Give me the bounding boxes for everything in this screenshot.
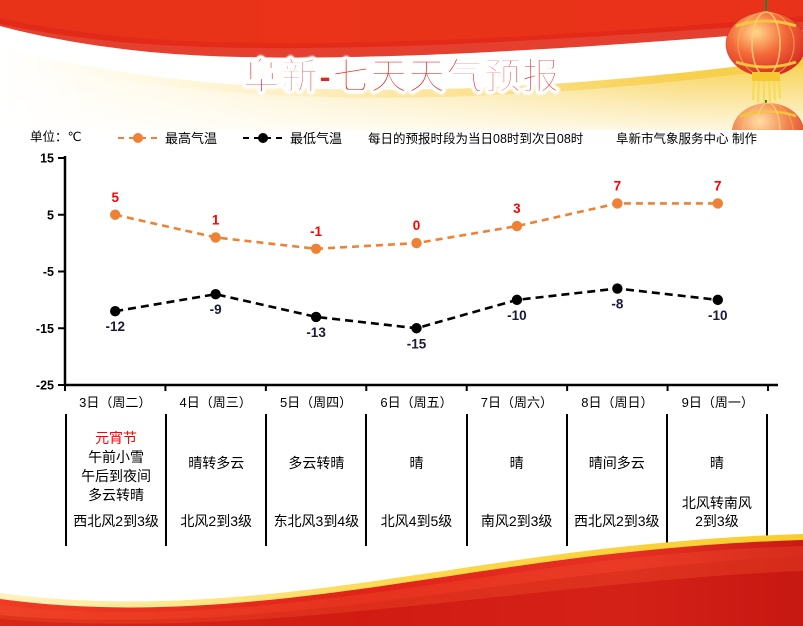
day-detail-table: 元宵节午前小雪午后到夜间多云转晴西北风2到3级晴转多云北风2到3级多云转晴东北风…: [65, 414, 768, 546]
svg-text:15: 15: [40, 152, 54, 166]
wind-text: 西北风2到3级: [568, 512, 666, 530]
weather-condition-text: 多云转晴: [88, 486, 144, 505]
weather-condition-text: 多云转晴: [288, 454, 344, 473]
wind-text: 东北风3到4级: [267, 512, 365, 530]
svg-text:5: 5: [111, 190, 119, 205]
day-column: 晴间多云西北风2到3级: [566, 414, 666, 546]
festival-label: 元宵节: [95, 429, 137, 448]
weather-condition-text: 晴间多云: [589, 454, 645, 473]
svg-text:9日（周一）: 9日（周一）: [682, 395, 754, 408]
svg-text:3日（周二）: 3日（周二）: [79, 395, 151, 408]
wind-text: 北风转南风2到3级: [668, 494, 766, 530]
svg-text:-8: -8: [611, 297, 623, 312]
svg-text:5日（周四）: 5日（周四）: [280, 395, 352, 408]
page-title: 阜新-七天天气预报: [0, 46, 803, 100]
chart-region: 单位：℃ 最高气温 最低气温 每日的预报时段为当日08时到次日08时 阜新市气象…: [0, 118, 803, 408]
svg-text:7: 7: [714, 178, 722, 193]
svg-text:-13: -13: [306, 325, 326, 340]
svg-text:-9: -9: [210, 302, 222, 317]
svg-text:7日（周六）: 7日（周六）: [481, 395, 553, 408]
svg-text:1: 1: [212, 212, 220, 227]
svg-text:-15: -15: [407, 336, 427, 351]
svg-text:6日（周五）: 6日（周五）: [380, 395, 452, 408]
weather-condition-text: 午前小雪: [88, 448, 144, 467]
footer-decoration: [0, 531, 803, 626]
weather-condition-text: 午后到夜间: [81, 467, 151, 486]
svg-text:-10: -10: [507, 308, 527, 323]
svg-text:3: 3: [513, 201, 521, 216]
svg-text:-25: -25: [36, 379, 54, 393]
svg-text:7: 7: [614, 178, 622, 193]
day-column: 晴北风转南风2到3级: [666, 414, 768, 546]
wind-text: 北风4到5级: [367, 512, 465, 530]
weather-forecast-page: 阜新-七天天气预报 单位：℃ 最高气温 最低气温 每日的预报时段为当日08时到次…: [0, 0, 803, 626]
weather-condition-text: 晴: [710, 454, 724, 473]
svg-text:4日（周三）: 4日（周三）: [180, 395, 252, 408]
svg-text:-5: -5: [43, 265, 54, 279]
wind-text: 西北风2到3级: [67, 512, 165, 530]
svg-text:-10: -10: [708, 308, 728, 323]
svg-text:-12: -12: [105, 319, 125, 334]
day-column: 元宵节午前小雪午后到夜间多云转晴西北风2到3级: [65, 414, 165, 546]
wind-text: 北风2到3级: [167, 512, 265, 530]
day-column: 晴北风4到5级: [365, 414, 465, 546]
svg-text:-15: -15: [36, 322, 54, 336]
footer-wave-graphic: [0, 531, 803, 626]
weather-condition-text: 晴: [409, 454, 423, 473]
weather-condition-text: 晴转多云: [188, 454, 244, 473]
day-column: 晴南风2到3级: [466, 414, 566, 546]
wind-text: 南风2到3级: [468, 512, 566, 530]
temperature-line-chart: 155-5-15-253日（周二）4日（周三）5日（周四）6日（周五）7日（周六…: [0, 118, 803, 408]
day-column: 晴转多云北风2到3级: [165, 414, 265, 546]
svg-text:5: 5: [47, 208, 54, 222]
svg-text:8日（周日）: 8日（周日）: [581, 395, 653, 408]
header-banner: 阜新-七天天气预报: [0, 0, 803, 130]
svg-text:-1: -1: [310, 224, 322, 239]
day-column: 多云转晴东北风3到4级: [265, 414, 365, 546]
svg-text:0: 0: [413, 218, 421, 233]
weather-condition-text: 晴: [510, 454, 524, 473]
